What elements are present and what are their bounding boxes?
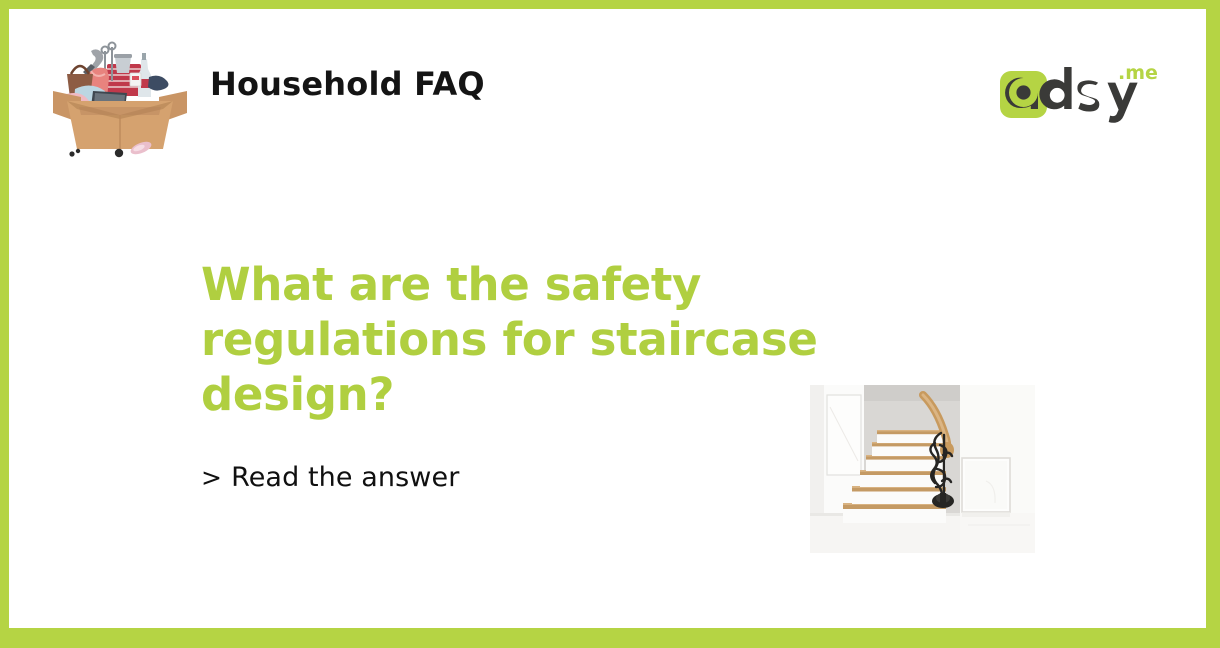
staircase-photo <box>810 385 1035 553</box>
frame-border-bottom <box>0 628 1220 648</box>
household-items-box-icon <box>45 29 195 159</box>
faq-promo-card: Household FAQ .me What are the safety re… <box>0 0 1220 648</box>
header: Household FAQ .me <box>9 9 1206 159</box>
read-the-answer-link[interactable]: > Read the answer <box>201 462 459 493</box>
headline: What are the safety regulations for stai… <box>201 257 901 422</box>
page-title: Household FAQ <box>210 65 485 103</box>
frame-border-top <box>0 0 1220 9</box>
frame-border-left <box>0 0 9 628</box>
svg-text:.me: .me <box>1118 62 1158 84</box>
frame-border-right <box>1206 0 1220 648</box>
read-the-answer-label: Read the answer <box>231 462 459 493</box>
adsy-me-logo[interactable]: .me <box>998 57 1160 129</box>
chevron-right-icon: > <box>201 465 222 490</box>
